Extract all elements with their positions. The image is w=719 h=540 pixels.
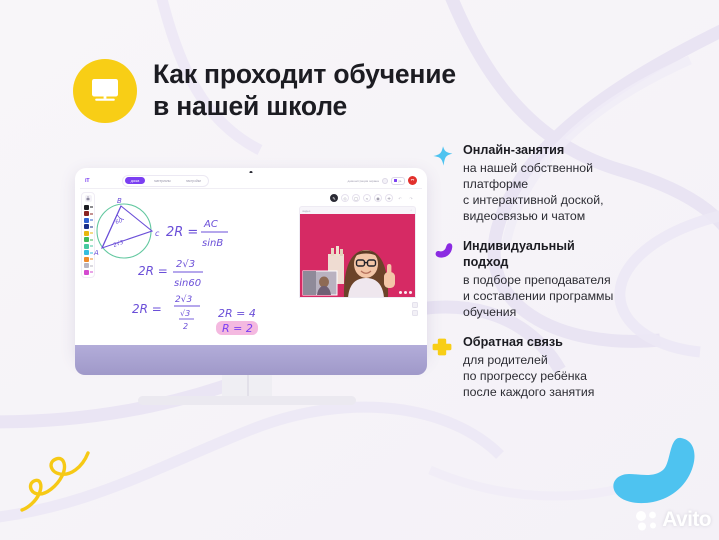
search-icon[interactable]	[412, 310, 418, 316]
formula-3-numerator: 2√3	[175, 294, 192, 305]
video-panel-label: видео	[303, 209, 311, 213]
list-item: Онлайн-занятия на нашей собственной плат…	[432, 143, 708, 224]
page-header: Как проходит обучение в нашей школе	[73, 55, 456, 123]
app-logo: iT	[85, 178, 89, 184]
monitor-accent-bar	[75, 345, 427, 375]
app-topbar-actions: демонстрация экрана уч.	[348, 176, 417, 185]
monitor-bezel: iT доска материалы настройки демонстраци…	[75, 168, 427, 360]
feature-title: Индивидуальный подход	[463, 239, 708, 271]
label-vertex-a: A	[93, 249, 99, 257]
feature-text: в подборе преподавателя и составлении пр…	[463, 272, 708, 320]
feature-icon-wrap	[432, 239, 454, 320]
video-call-panel: видео ⌃	[299, 206, 416, 298]
video-side-controls[interactable]	[412, 302, 418, 316]
participants-icon	[394, 179, 397, 182]
more-dots-icon[interactable]	[399, 291, 412, 294]
monitor-stand-neck	[222, 375, 272, 398]
yellow-squiggle-decoration	[20, 450, 100, 516]
feature-title: Обратная связь	[463, 335, 708, 351]
chevron-icon[interactable]: ⌃	[410, 209, 413, 213]
feature-icon-wrap	[432, 335, 454, 400]
tab-materials[interactable]: материалы	[148, 177, 177, 184]
formula-2-denominator: sin60	[174, 278, 201, 289]
formula-3-sub-numerator: √3	[180, 309, 190, 318]
list-item: Индивидуальный подход в подборе преподав…	[432, 239, 708, 320]
plus-icon	[432, 337, 452, 357]
expand-icon[interactable]	[412, 302, 418, 308]
pip-thumbnail	[303, 271, 337, 295]
tab-board[interactable]: доска	[125, 177, 145, 184]
participants-chip[interactable]: уч.	[391, 177, 405, 185]
page-title: Как проходит обучение в нашей школе	[153, 55, 456, 123]
feature-text: для родителей по прогрессу ребёнка после…	[463, 352, 708, 400]
blue-blob-decoration	[609, 436, 701, 514]
list-item: Обратная связь для родителей по прогресс…	[432, 335, 708, 400]
end-call-button[interactable]	[408, 176, 417, 185]
label-side: 2√3	[112, 239, 125, 249]
monitor-screen: iT доска материалы настройки демонстраци…	[80, 173, 422, 355]
app-topbar: iT доска материалы настройки демонстраци…	[80, 173, 422, 189]
formula-2-left: 2R =	[138, 264, 168, 278]
avito-logo-text: Avito	[662, 508, 711, 532]
phone-hangup-icon	[410, 178, 415, 183]
app-tab-group: доска материалы настройки	[122, 175, 209, 187]
star-icon	[432, 145, 454, 167]
formula-1-numerator: AC	[203, 219, 218, 230]
avito-dots-icon	[635, 508, 659, 532]
feature-text: на нашей собственной платформе с интерак…	[463, 160, 708, 224]
badge-circle	[73, 59, 137, 123]
monitor-icon	[89, 77, 121, 105]
video-stage	[299, 214, 416, 298]
formula-3-left: 2R =	[132, 302, 162, 316]
screenshare-label[interactable]: демонстрация экрана	[348, 179, 379, 183]
result-2r: 2R = 4	[218, 307, 256, 320]
label-vertex-c: c	[155, 229, 160, 238]
dot	[399, 291, 402, 294]
feature-body: Обратная связь для родителей по прогресс…	[463, 335, 708, 400]
monitor-illustration: iT доска материалы настройки демонстраци…	[67, 168, 427, 408]
video-panel-header: видео ⌃	[299, 206, 416, 214]
label-vertex-b: B	[117, 197, 122, 205]
participants-count: уч.	[398, 179, 402, 183]
feature-list: Онлайн-занятия на нашей собственной плат…	[432, 143, 708, 415]
teacher-video-frame	[300, 214, 416, 298]
formula-2-numerator: 2√3	[176, 259, 195, 270]
tab-settings[interactable]: настройки	[180, 177, 207, 184]
formula-1-left: 2R =	[166, 225, 198, 240]
feature-body: Онлайн-занятия на нашей собственной плат…	[463, 143, 708, 224]
avito-watermark: Avito	[635, 508, 711, 532]
dot	[409, 291, 412, 294]
result-r: R = 2	[222, 322, 253, 335]
formula-1-denominator: sinB	[202, 238, 223, 249]
feature-icon-wrap	[432, 143, 454, 224]
feature-title: Онлайн-занятия	[463, 143, 708, 159]
formula-3-sub-denominator: 2	[183, 322, 188, 331]
dot	[404, 291, 407, 294]
gear-icon[interactable]	[382, 178, 388, 184]
monitor-stand-base	[138, 396, 356, 405]
feature-body: Индивидуальный подход в подборе преподав…	[463, 239, 708, 320]
crescent-hook-icon	[432, 241, 454, 263]
